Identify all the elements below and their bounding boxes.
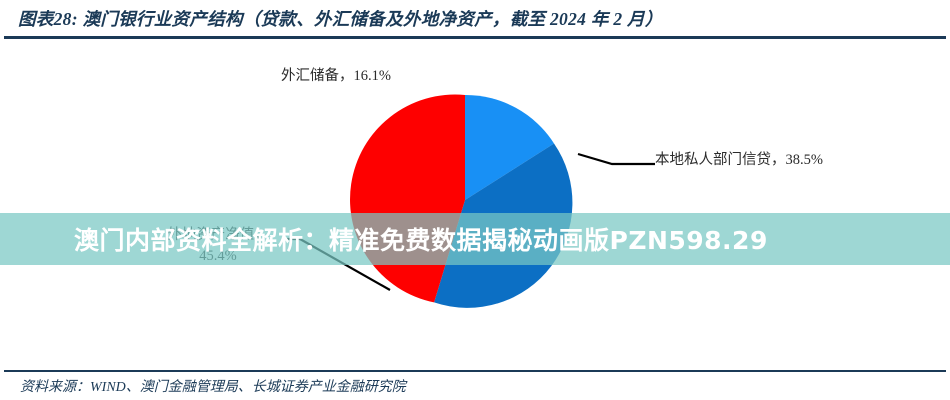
leader-line-local-credit: [578, 154, 655, 164]
pie-label-forex: 外汇储备，16.1%: [281, 66, 391, 87]
footer-divider: [4, 370, 946, 372]
pie-label-local-credit: 本地私人部门信贷，38.5%: [655, 150, 870, 171]
pie-chart-figure: 外汇储备，16.1% 本地私人部门信贷，38.5% 外地资产净值， 45.4% …: [0, 40, 950, 358]
page-title: 图表28: 澳门银行业资产结构（贷款、外汇储备及外地净资产，截至 2024 年 …: [18, 6, 663, 31]
header-divider: [4, 36, 946, 39]
source-note: 资料来源：WIND、澳门金融管理局、长城证券产业金融研究院: [20, 376, 406, 396]
pie-chart-svg: [0, 40, 950, 358]
chart-header: 图表28: 澳门银行业资产结构（贷款、外汇储备及外地净资产，截至 2024 年 …: [0, 0, 950, 40]
pie-label-external: 外地资产净值， 45.4%: [148, 225, 288, 267]
